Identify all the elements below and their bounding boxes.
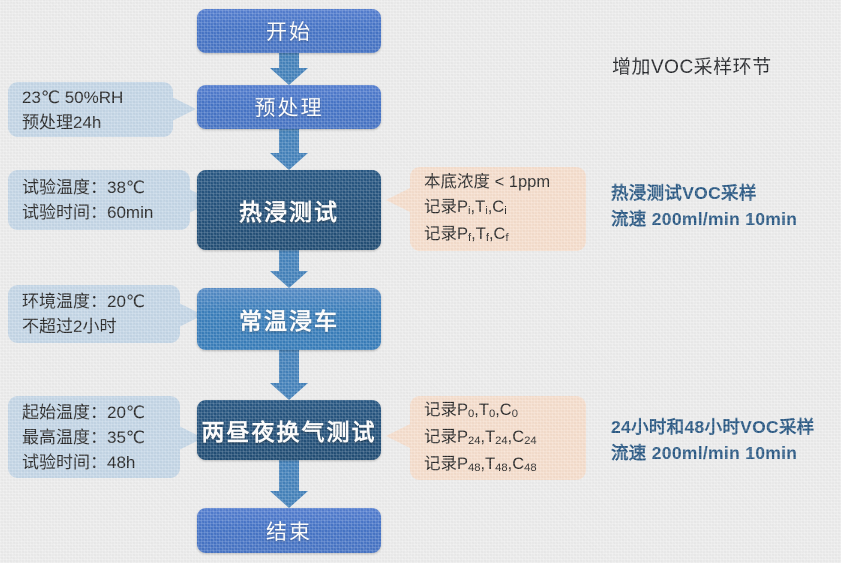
arrow-pretreat-to-hot-soak <box>250 129 328 170</box>
callout-tail-hot-soak-records <box>386 187 412 213</box>
callout-line: 起始温度：20℃ <box>22 400 166 425</box>
flow-node-start[interactable]: 开始 <box>197 9 381 53</box>
page-title: 增加VOC采样环节 <box>612 52 772 79</box>
annotation-two-day-voc: 24小时和48小时VOC采样 流速 200ml/min 10min <box>611 414 815 466</box>
callout-tail-pretreat <box>170 96 196 122</box>
callout-line: 环境温度：20℃ <box>22 289 166 314</box>
flowchart-canvas: 增加VOC采样环节 开始 预处理 热浸测试 常温浸车 两昼夜换气测试 结束 23… <box>0 0 841 563</box>
annotation-line: 流速 200ml/min 10min <box>611 440 815 466</box>
callout-line: 记录P0,T0,C0 <box>424 398 572 425</box>
callout-line: 记录P48,T48,C48 <box>424 452 572 479</box>
callout-line: 记录Pf,Tf,Cf <box>424 222 572 249</box>
annotation-line: 热浸测试VOC采样 <box>611 180 797 206</box>
annotation-line: 流速 200ml/min 10min <box>611 206 797 232</box>
callout-line: 试验时间：60min <box>22 200 176 225</box>
callout-ambient-conditions: 环境温度：20℃ 不超过2小时 <box>8 285 180 343</box>
callout-line: 最高温度：35℃ <box>22 425 166 450</box>
callout-hot-soak-conditions: 试验温度：38℃ 试验时间：60min <box>8 170 190 230</box>
callout-line: 本底浓度 < 1ppm <box>424 170 572 195</box>
flow-node-two-day-ventilation[interactable]: 两昼夜换气测试 <box>197 400 381 460</box>
callout-two-day-records: 记录P0,T0,C0 记录P24,T24,C24 记录P48,T48,C48 <box>410 396 586 480</box>
flow-node-hot-soak[interactable]: 热浸测试 <box>197 170 381 250</box>
annotation-hot-soak-voc: 热浸测试VOC采样 流速 200ml/min 10min <box>611 180 797 232</box>
flow-node-pretreat[interactable]: 预处理 <box>197 85 381 129</box>
arrow-start-to-pretreat <box>250 53 328 85</box>
callout-pretreat-conditions: 23℃ 50%RH 预处理24h <box>8 82 173 137</box>
callout-line: 试验时间：48h <box>22 450 166 475</box>
flow-node-ambient-soak[interactable]: 常温浸车 <box>197 288 381 350</box>
callout-line: 预处理24h <box>22 110 159 135</box>
arrow-ambient-to-two-day <box>250 350 328 400</box>
annotation-line: 24小时和48小时VOC采样 <box>611 414 815 440</box>
arrow-hot-soak-to-ambient <box>250 250 328 288</box>
callout-line: 记录P24,T24,C24 <box>424 425 572 452</box>
callout-tail-two-day-records <box>386 423 412 449</box>
callout-line: 不超过2小时 <box>22 314 166 339</box>
callout-line: 试验温度：38℃ <box>22 175 176 200</box>
arrow-two-day-to-end <box>250 460 328 508</box>
callout-two-day-conditions: 起始温度：20℃ 最高温度：35℃ 试验时间：48h <box>8 396 180 478</box>
callout-line: 记录Pi,Ti,Ci <box>424 195 572 222</box>
flow-node-end[interactable]: 结束 <box>197 508 381 553</box>
callout-hot-soak-records: 本底浓度 < 1ppm 记录Pi,Ti,Ci 记录Pf,Tf,Cf <box>410 167 586 251</box>
callout-line: 23℃ 50%RH <box>22 85 159 110</box>
